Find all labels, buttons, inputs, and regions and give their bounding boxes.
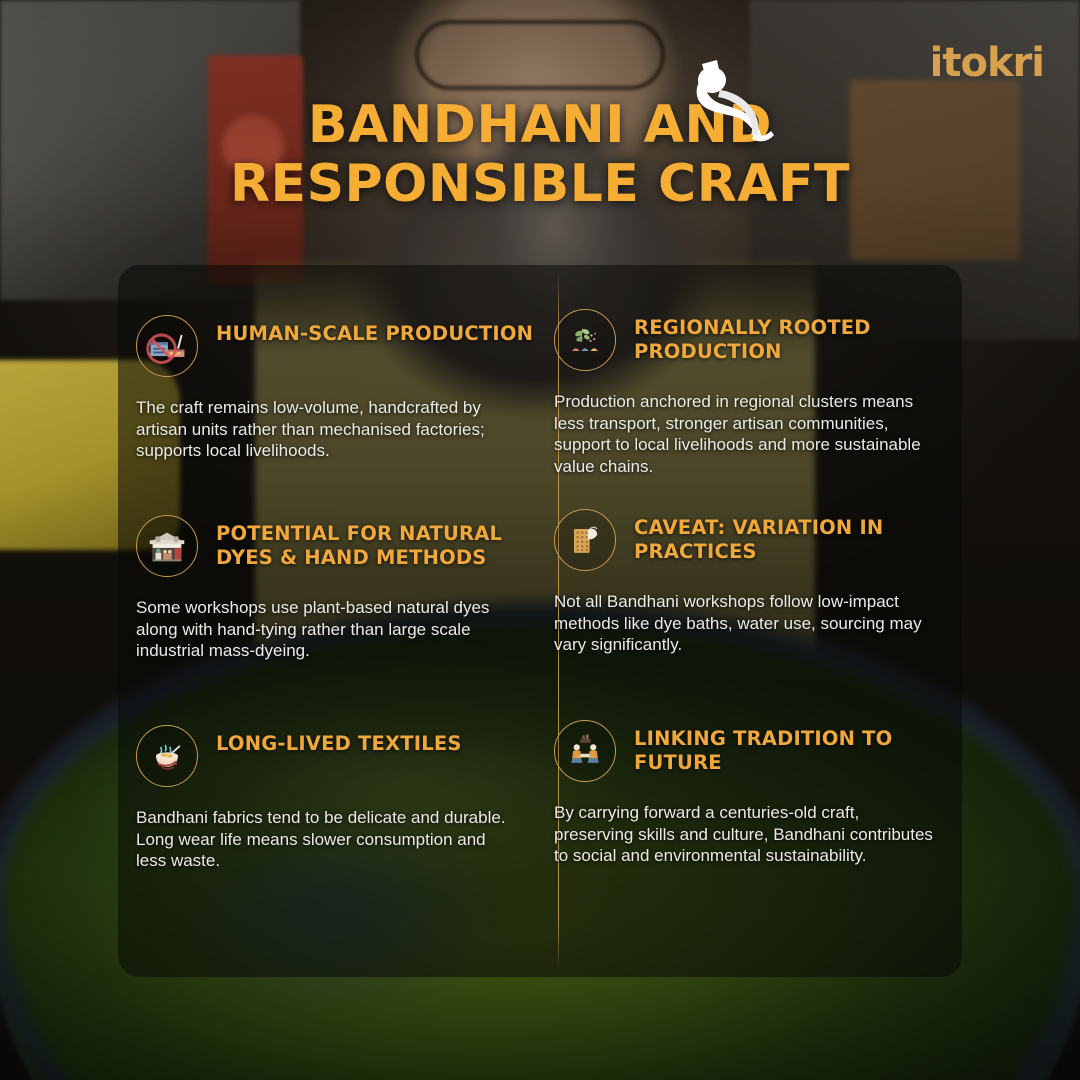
- two-artisans-icon: [554, 720, 616, 782]
- item-body: The craft remains low-volume, handcrafte…: [118, 397, 518, 462]
- seedling-soil-icon: [554, 309, 616, 371]
- item-body: Production anchored in regional clusters…: [540, 391, 940, 477]
- item-body: Some workshops use plant-based natural d…: [118, 597, 518, 662]
- list-item[interactable]: LINKING TRADITION TO FUTURE By carrying …: [540, 720, 962, 867]
- item-title: CAVEAT: VARIATION IN PRACTICES: [634, 509, 962, 564]
- title-block: BANDHANI AND RESPONSIBLE CRAFT: [0, 96, 1080, 215]
- item-title: POTENTIAL FOR NATURAL DYES & HAND METHOD…: [216, 515, 540, 570]
- workshop-building-icon: [136, 515, 198, 577]
- list-item[interactable]: HUMAN-SCALE PRODUCTION The craft remains…: [118, 315, 540, 462]
- item-title: REGIONALLY ROOTED PRODUCTION: [634, 309, 962, 364]
- cat-silhouette-icon: [676, 50, 786, 150]
- hand-holding-fabric-icon: [554, 509, 616, 571]
- item-header: CAVEAT: VARIATION IN PRACTICES: [540, 509, 962, 571]
- brand-logo-text: itokri: [930, 40, 1044, 86]
- item-body: By carrying forward a centuries-old craf…: [540, 802, 940, 867]
- page-title: BANDHANI AND RESPONSIBLE CRAFT: [0, 96, 1080, 215]
- list-item[interactable]: CAVEAT: VARIATION IN PRACTICES Not all B…: [540, 509, 962, 656]
- page-title-line-2: RESPONSIBLE CRAFT: [0, 155, 1080, 214]
- list-item[interactable]: REGIONALLY ROOTED PRODUCTION Production …: [540, 309, 962, 477]
- item-title: HUMAN-SCALE PRODUCTION: [216, 315, 533, 346]
- item-header: REGIONALLY ROOTED PRODUCTION: [540, 309, 962, 371]
- page-title-line-1: BANDHANI AND: [0, 96, 1080, 155]
- list-item[interactable]: LONG-LIVED TEXTILES Bandhani fabrics ten…: [118, 725, 540, 872]
- infographic-canvas: itokri BANDHANI AND RESPONSIBLE CRAFT: [0, 0, 1080, 1080]
- no-factory-icon: [136, 315, 198, 377]
- list-item[interactable]: POTENTIAL FOR NATURAL DYES & HAND METHOD…: [118, 515, 540, 662]
- item-header: POTENTIAL FOR NATURAL DYES & HAND METHOD…: [118, 515, 540, 577]
- brand-logo[interactable]: itokri: [930, 40, 1044, 86]
- item-body: Not all Bandhani workshops follow low-im…: [540, 591, 940, 656]
- item-title: LINKING TRADITION TO FUTURE: [634, 720, 962, 775]
- content-grid: HUMAN-SCALE PRODUCTION The craft remains…: [118, 265, 962, 977]
- item-header: LONG-LIVED TEXTILES: [118, 725, 540, 787]
- item-title: LONG-LIVED TEXTILES: [216, 725, 462, 756]
- dye-pot-icon: [136, 725, 198, 787]
- item-header: HUMAN-SCALE PRODUCTION: [118, 315, 540, 377]
- item-body: Bandhani fabrics tend to be delicate and…: [118, 807, 518, 872]
- item-header: LINKING TRADITION TO FUTURE: [540, 720, 962, 782]
